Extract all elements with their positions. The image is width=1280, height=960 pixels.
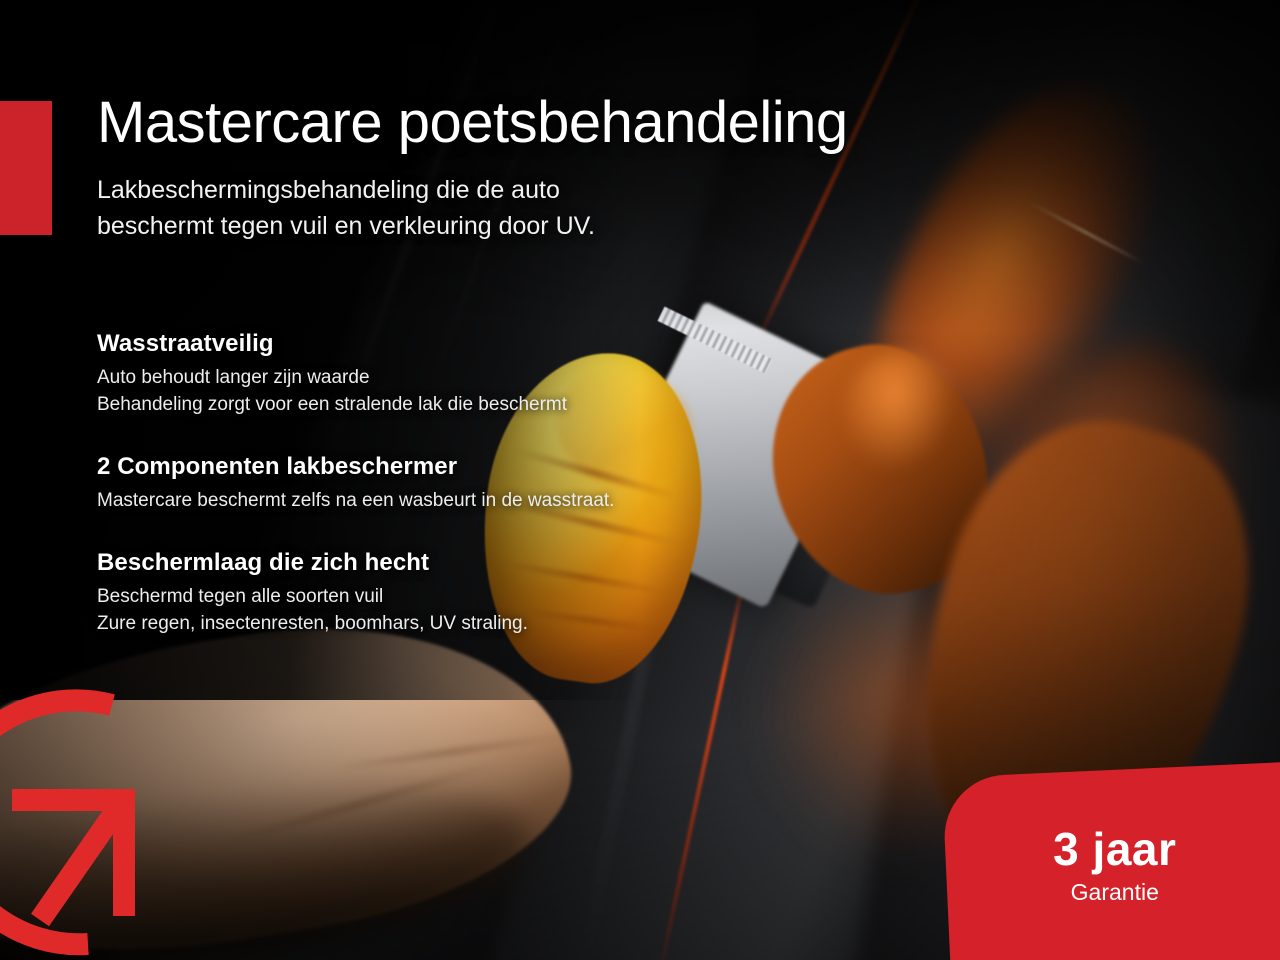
subtitle-line-1: Lakbeschermingsbehandeling die de auto <box>97 173 595 209</box>
feature-line: Beschermd tegen alle soorten vuil <box>97 584 817 611</box>
feature-list: Wasstraatveilig Auto behoudt langer zijn… <box>97 330 817 638</box>
subtitle-line-2: beschermt tegen vuil en verkleuring door… <box>97 209 595 245</box>
feature-line: Behandeling zorgt voor een stralende lak… <box>97 392 817 419</box>
feature-description: Mastercare beschermt zelfs na een wasbeu… <box>97 488 817 515</box>
feature-line: Auto behoudt langer zijn waarde <box>97 365 817 392</box>
guarantee-label: Garantie <box>945 881 1280 904</box>
feature-line: Mastercare beschermt zelfs na een wasbeu… <box>97 488 817 515</box>
feature-description: Beschermd tegen alle soorten vuil Zure r… <box>97 584 817 638</box>
page-subtitle: Lakbeschermingsbehandeling die de auto b… <box>97 173 595 244</box>
feature-item: Wasstraatveilig Auto behoudt langer zijn… <box>97 330 817 419</box>
feature-title: Beschermlaag die zich hecht <box>97 549 817 577</box>
guarantee-years: 3 jaar <box>945 826 1280 872</box>
feature-item: Beschermlaag die zich hecht Beschermd te… <box>97 549 817 638</box>
feature-title: Wasstraatveilig <box>97 330 817 358</box>
guarantee-badge: 3 jaar Garantie <box>942 762 1280 960</box>
feature-item: 2 Componenten lakbeschermer Mastercare b… <box>97 453 817 515</box>
guarantee-badge-content: 3 jaar Garantie <box>945 770 1280 904</box>
feature-description: Auto behoudt langer zijn waarde Behandel… <box>97 365 817 419</box>
feature-title: 2 Componenten lakbeschermer <box>97 453 817 481</box>
promo-poster: Mastercare poetsbehandeling Lakbeschermi… <box>0 0 1280 960</box>
red-accent-bar <box>0 101 52 235</box>
page-title: Mastercare poetsbehandeling <box>97 92 848 155</box>
right-glove-highlight <box>845 352 955 472</box>
feature-line: Zure regen, insectenresten, boomhars, UV… <box>97 611 817 638</box>
